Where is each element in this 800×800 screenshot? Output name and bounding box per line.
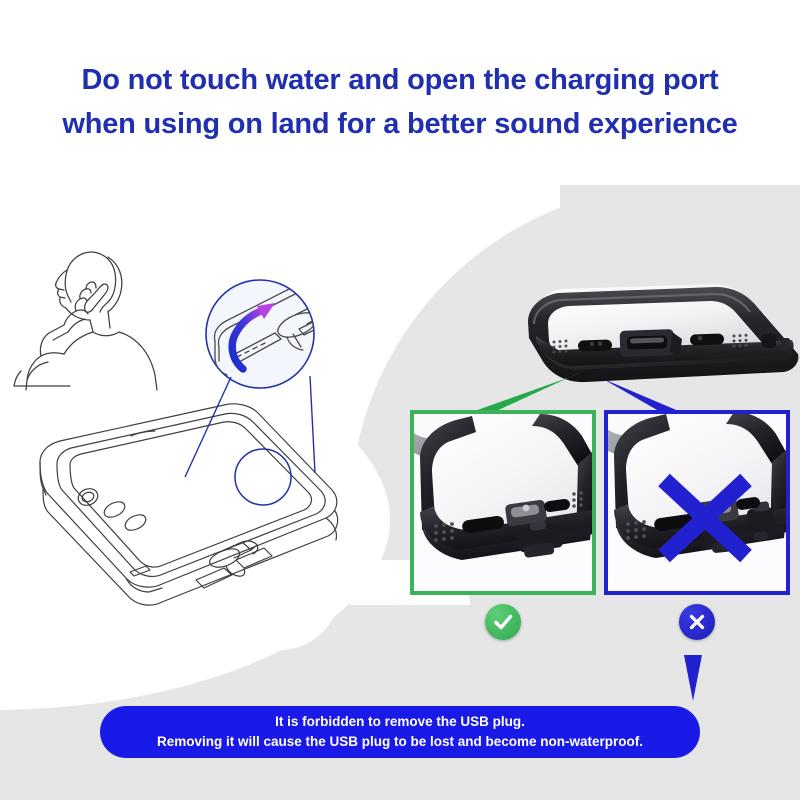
check-circle-icon (485, 604, 521, 640)
incorrect-usage-panel (604, 410, 790, 595)
caption-to-incorrect-arrow (684, 655, 702, 701)
waterproof-case-line-art (10, 400, 350, 620)
correct-usage-panel (410, 410, 596, 595)
cross-circle-icon (679, 604, 715, 640)
usb-plug-removed-photo (608, 414, 786, 591)
usb-plug-attached-photo (414, 414, 592, 591)
magnified-charging-port-detail (197, 277, 327, 399)
page-title: Do not touch water and open the charging… (0, 58, 800, 146)
x-icon (686, 611, 708, 633)
check-icon (491, 610, 515, 634)
usb-charging-port-cover (620, 329, 682, 357)
person-holding-phone-icon (8, 240, 188, 390)
warning-caption-line-2: Removing it will cause the USB plug to b… (157, 732, 643, 752)
instruction-graphic: Do not touch water and open the charging… (0, 0, 800, 800)
warning-caption: It is forbidden to remove the USB plug. … (100, 706, 700, 758)
warning-caption-line-1: It is forbidden to remove the USB plug. (275, 712, 525, 732)
page-title-line-2: when using on land for a better sound ex… (0, 102, 800, 146)
page-title-line-1: Do not touch water and open the charging… (0, 58, 800, 102)
